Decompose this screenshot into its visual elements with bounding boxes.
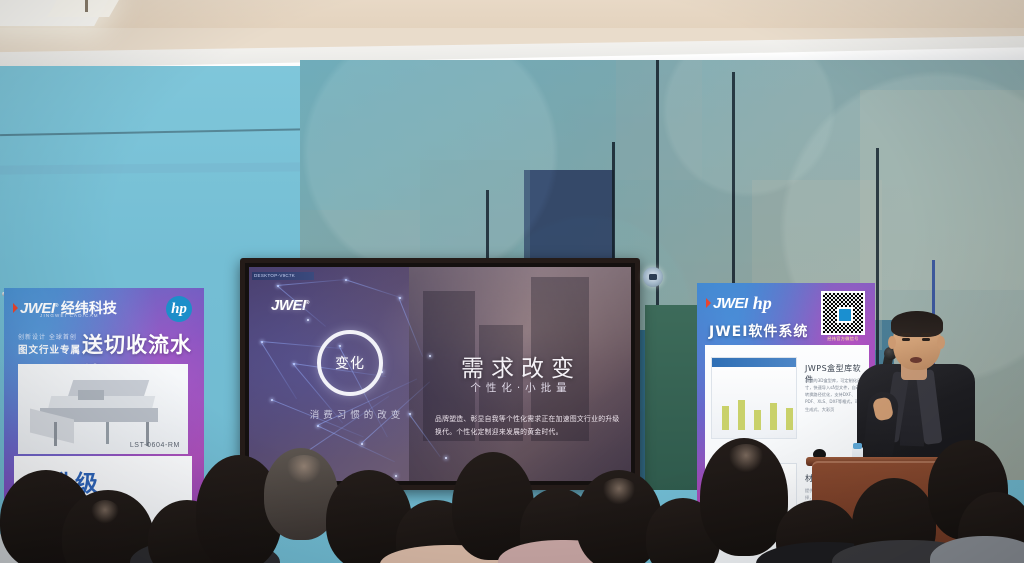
jwei-registered-mark: ® (55, 303, 58, 309)
registered-mark: ® (306, 300, 309, 306)
screen-body-text: 品牌塑造、彰显自我等个性化需求正在加速图文行业的升级换代。个性化定制迎来发展的黄… (435, 413, 621, 438)
audience-scalp (90, 500, 120, 526)
software-screenshot (711, 357, 797, 439)
green-board (645, 305, 705, 490)
left-banner-model-number: LST-0604-RM (130, 442, 180, 449)
desktop-taskbar-label: DESKTOP-V9C7K (252, 272, 314, 280)
audience-scalp (726, 444, 766, 474)
hp-logo: hp (166, 296, 192, 322)
speaker-ear-left (888, 336, 896, 349)
screen-left-caption: 消费习惯的改变 (287, 407, 427, 421)
light-stem (85, 0, 88, 12)
audience-scalp (600, 478, 638, 506)
ceiling-light-panel-inner (47, 0, 119, 17)
brand-name-en: JINGWEI CAD/CAM (40, 313, 99, 318)
speaker-hair (891, 311, 943, 337)
hp-logo-right: hp (753, 293, 772, 314)
right-banner-title: JWEI软件系统 (709, 321, 808, 341)
speaker-eye-left (902, 338, 910, 341)
conference-photo-scene: DESKTOP-V9C7K JWEI® (0, 0, 1024, 563)
screen-headline: 需求改变 (425, 349, 617, 383)
left-banner-tagline-bold: 图文行业专属 (18, 342, 81, 356)
speaker-eyebrow-right (921, 333, 931, 336)
jwei-logo-right: JWEI (709, 295, 748, 312)
qr-code-caption: 经纬官方微信号 (821, 336, 865, 342)
camera-icon (643, 267, 663, 287)
qr-code (821, 291, 865, 335)
water-bottle-cap (853, 443, 862, 449)
left-banner-tagline-small: 创新设计 全球首创 (18, 332, 77, 341)
software-body: 海量的3D盒型库，可定制化尺寸，快速导入så型文件，自动转换路径优化，支持DXF… (805, 377, 863, 413)
left-banner-product-photo: LST-0604-RM (18, 364, 188, 454)
right-banner-brand: JWEI hp (709, 293, 772, 314)
circle-badge-text: 变化 (335, 353, 365, 373)
speaker-mouth (910, 357, 922, 363)
speaker-eye-right (922, 338, 930, 341)
jwei-logo-right-text: JWEI (713, 295, 748, 312)
speaker-ear-right (937, 336, 945, 349)
speaker-eyebrow-left (901, 333, 911, 336)
screen-subheadline: 个性化·小批量 (425, 380, 617, 395)
audience-scalp (284, 455, 324, 485)
change-circle-badge: 变化 (317, 330, 383, 396)
screen-jwei-logo: JWEI® (271, 297, 309, 314)
